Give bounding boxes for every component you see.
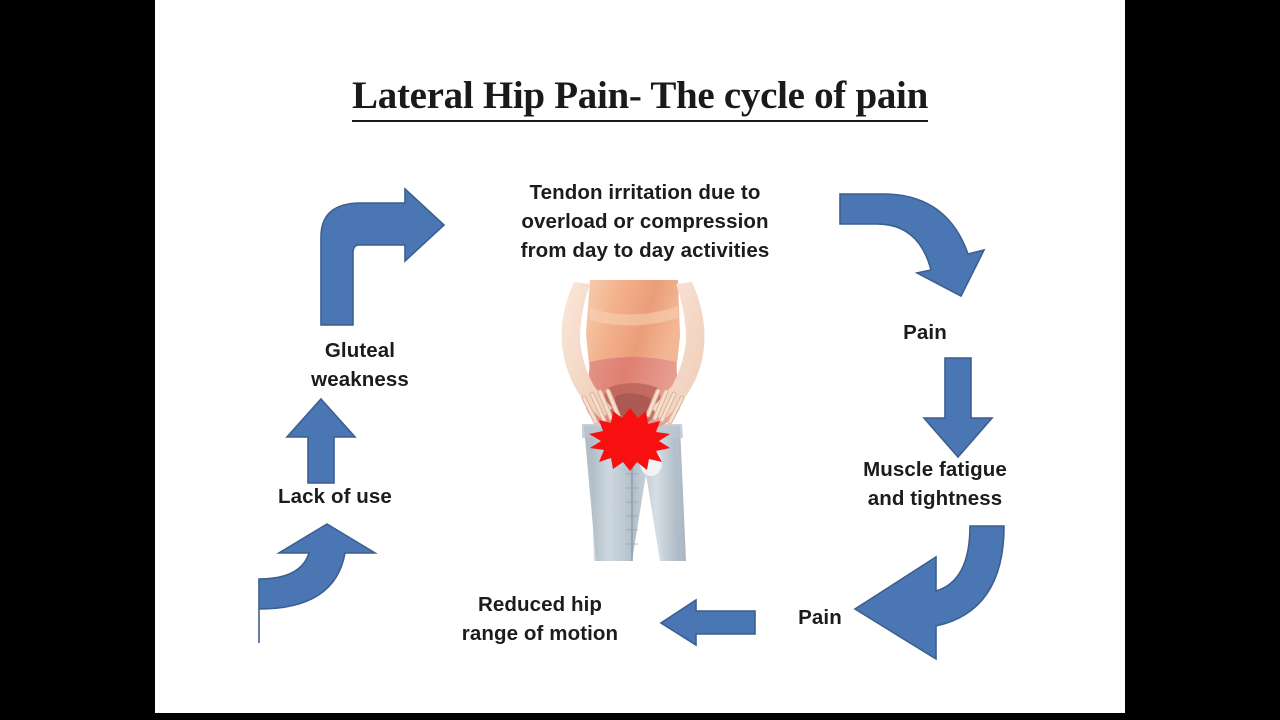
cycle-node-lack-of-use: Lack of use: [235, 482, 435, 511]
cycle-node-muscle-fatigue: Muscle fatigue and tightness: [825, 455, 1045, 513]
arrow-pain-bottom-to-reduced: [658, 598, 758, 648]
hip-pain-photograph: [520, 278, 745, 561]
arrow-gluteal-to-tendon: [313, 187, 448, 327]
arrow-lack-to-gluteal: [283, 397, 359, 485]
arrow-muscle-to-pain-bottom: [852, 523, 1007, 663]
cycle-node-gluteal-weakness: Gluteal weakness: [265, 336, 455, 394]
arrow-tendon-to-pain: [837, 188, 1007, 298]
page-title-text: Lateral Hip Pain- The cycle of pain: [352, 74, 928, 122]
cycle-node-reduced-hip-rom: Reduced hip range of motion: [425, 590, 655, 648]
arrow-reduced-to-lack: [256, 521, 431, 646]
page-title: Lateral Hip Pain- The cycle of pain: [155, 73, 1125, 118]
cycle-node-tendon-irritation: Tendon irritation due to overload or com…: [480, 178, 810, 265]
cycle-node-pain-upper-right: Pain: [860, 318, 990, 347]
slide-canvas: Lateral Hip Pain- The cycle of pain: [155, 0, 1125, 713]
arrow-pain-to-muscle: [920, 356, 996, 460]
screenshot-stage: Lateral Hip Pain- The cycle of pain: [0, 0, 1280, 720]
cycle-node-pain-bottom-right: Pain: [755, 603, 885, 632]
